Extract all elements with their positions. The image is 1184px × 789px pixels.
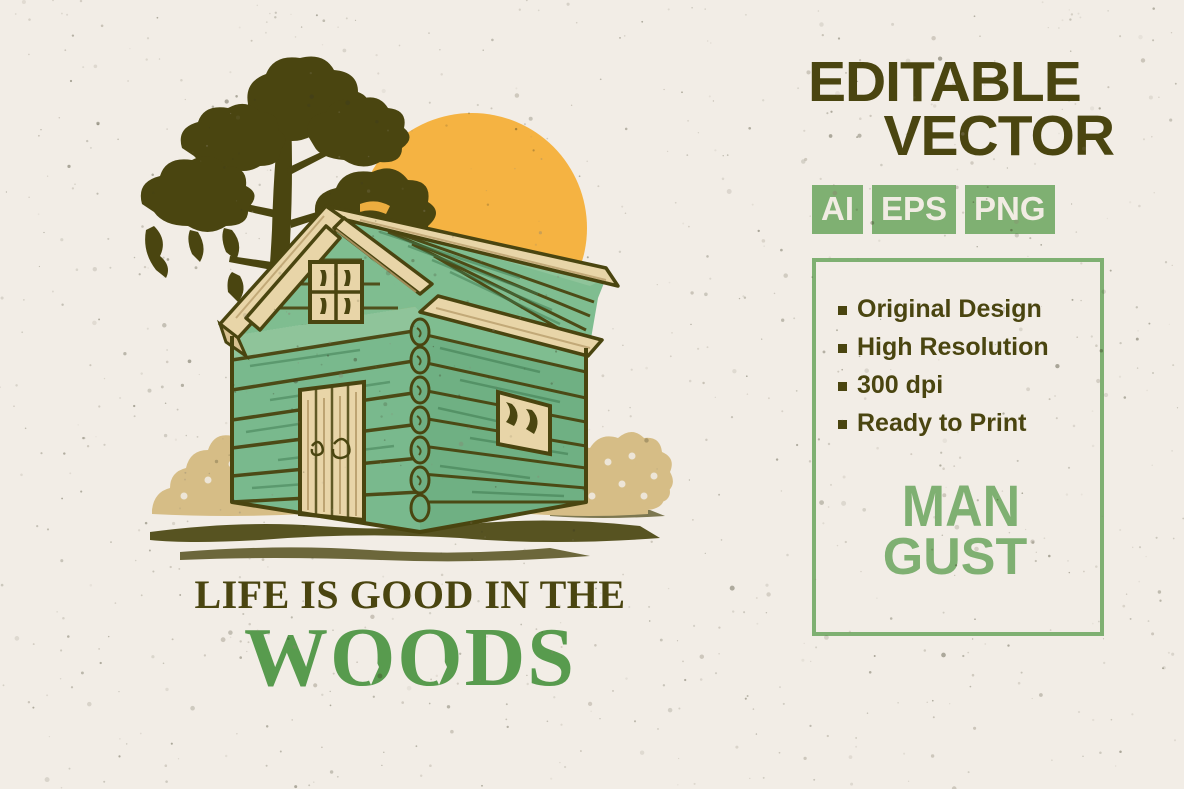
bullet-square-icon bbox=[838, 420, 847, 429]
feature-item: High Resolution bbox=[838, 328, 1100, 366]
headline-line-2: VECTOR bbox=[808, 109, 1118, 163]
svg-text:GUST: GUST bbox=[883, 528, 1028, 583]
feature-list-box: Original Design High Resolution 300 dpi … bbox=[812, 258, 1104, 636]
format-badge-png[interactable]: PNG bbox=[965, 185, 1055, 234]
feature-label: Original Design bbox=[857, 290, 1042, 328]
log-cabin-illustration bbox=[120, 40, 700, 580]
panel-headline: EDITABLE VECTOR bbox=[808, 55, 1118, 163]
format-badge-eps[interactable]: EPS bbox=[872, 185, 956, 234]
format-badge-ai[interactable]: AI bbox=[812, 185, 863, 234]
feature-label: High Resolution bbox=[857, 328, 1049, 366]
feature-label: 300 dpi bbox=[857, 366, 943, 404]
poster-canvas: LIFE IS GOOD IN THE WOODS EDITABLE VECTO… bbox=[0, 0, 1184, 789]
brand-logo[interactable]: MAN GUST bbox=[816, 478, 1100, 583]
poster-title: LIFE IS GOOD IN THE WOODS bbox=[150, 575, 670, 699]
cabin-door bbox=[300, 382, 364, 520]
feature-item: Original Design bbox=[838, 290, 1100, 328]
title-line-1: LIFE IS GOOD IN THE bbox=[150, 575, 670, 615]
bullet-square-icon bbox=[838, 306, 847, 315]
cabin-front-window bbox=[310, 262, 362, 322]
feature-item: Ready to Print bbox=[838, 404, 1100, 442]
title-line-2: WOODS bbox=[150, 617, 670, 699]
feature-item: 300 dpi bbox=[838, 366, 1100, 404]
bullet-square-icon bbox=[838, 344, 847, 353]
headline-line-1: EDITABLE bbox=[808, 55, 1118, 109]
feature-list: Original Design High Resolution 300 dpi … bbox=[816, 262, 1100, 442]
info-panel: EDITABLE VECTOR AI EPS PNG Original Desi… bbox=[808, 55, 1118, 636]
bullet-square-icon bbox=[838, 382, 847, 391]
feature-label: Ready to Print bbox=[857, 404, 1026, 442]
svg-text:WOODS: WOODS bbox=[244, 617, 576, 699]
file-format-badges: AI EPS PNG bbox=[808, 185, 1118, 234]
